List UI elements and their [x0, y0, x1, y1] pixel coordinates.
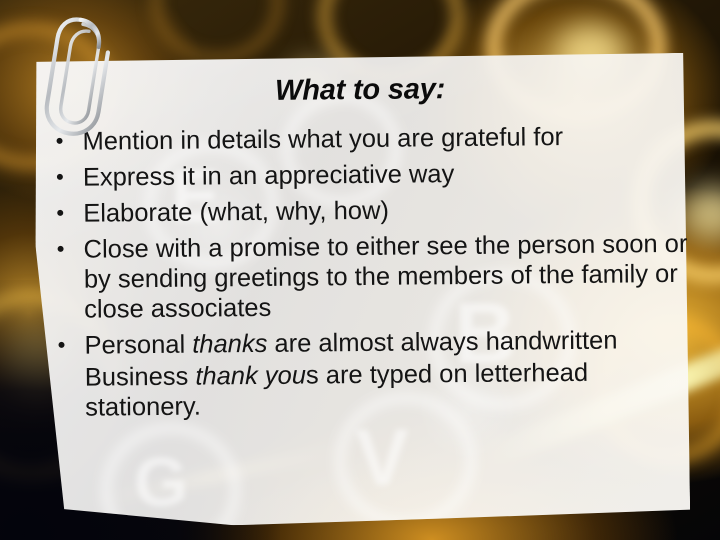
list-item: Express it in an appreciative way — [43, 157, 687, 193]
list-item: Close with a promise to either see the p… — [43, 229, 688, 325]
list-item-label: Elaborate (what, why, how) — [83, 197, 389, 228]
bullet-dot-icon — [57, 210, 63, 216]
list-item-label: Close with a promise to either see the p… — [83, 230, 687, 324]
bullet-dot-icon — [58, 246, 64, 252]
bullet-dot-icon — [57, 174, 63, 180]
bullet-dot-icon — [57, 138, 63, 144]
list-item: Personal thanks are almost always handwr… — [44, 325, 688, 361]
bullet-dot-icon — [58, 342, 64, 348]
bullet-list: Mention in details what you are grateful… — [42, 121, 689, 423]
slide-content: What to say: Mention in details what you… — [34, 53, 690, 527]
slide-canvas: E B V G What to say: Mention in details … — [0, 0, 720, 540]
list-item: Business thank yous are typed on letterh… — [45, 357, 690, 423]
list-item-label: Business thank yous are typed on letterh… — [85, 359, 589, 422]
page-title: What to say: — [34, 71, 686, 110]
list-item-label: Personal thanks are almost always handwr… — [84, 327, 617, 360]
list-item: Mention in details what you are grateful… — [42, 121, 686, 157]
list-item-label: Express it in an appreciative way — [83, 160, 455, 192]
list-item-label: Mention in details what you are grateful… — [82, 123, 563, 156]
list-item: Elaborate (what, why, how) — [43, 193, 687, 229]
